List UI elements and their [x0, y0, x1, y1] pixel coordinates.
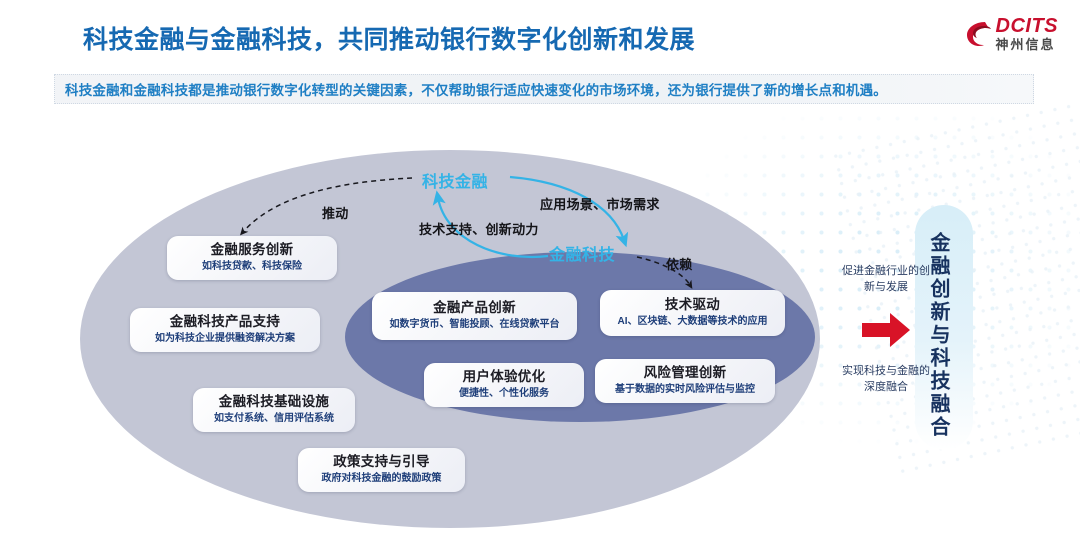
brand-logo: DCITS 神州信息 [965, 16, 1059, 51]
logo-wordmark: DCITS 神州信息 [996, 16, 1059, 51]
card-user-experience-optimization[interactable]: 用户体验优化 便捷性、个性化服务 [424, 363, 584, 407]
card-subtitle: 基于数据的实时风险评估与监控 [615, 384, 755, 397]
card-subtitle: 政府对科技金融的鼓励政策 [322, 473, 442, 486]
logo-brand-text-cn: 神州信息 [996, 38, 1059, 51]
card-title: 金融科技基础设施 [219, 394, 329, 411]
red-arrow-icon [860, 310, 912, 350]
card-title: 技术驱动 [665, 297, 720, 314]
label-rely: 依赖 [666, 254, 693, 273]
card-fintech-product-support[interactable]: 金融科技产品支持 如为科技企业提供融资解决方案 [130, 308, 320, 352]
card-risk-management-innovation[interactable]: 风险管理创新 基于数据的实时风险评估与监控 [595, 359, 775, 403]
card-financial-service-innovation[interactable]: 金融服务创新 如科技贷款、科技保险 [167, 236, 337, 280]
subtitle-text: 科技金融和金融科技都是推动银行数字化转型的关键因素，不仅帮助银行适应快速变化的市… [55, 79, 887, 99]
card-subtitle: 如科技贷款、科技保险 [202, 261, 302, 274]
label-push: 推动 [322, 203, 349, 222]
label-tech-support: 技术支持、创新动力 [419, 219, 539, 238]
vertical-section-title: 金融创新与科技融合 [928, 232, 948, 439]
logo-brand-text: DCITS [996, 16, 1059, 36]
card-technology-driven[interactable]: 技术驱动 AI、区块链、大数据等技术的应用 [600, 290, 785, 336]
swirl-logo-icon [965, 19, 991, 49]
card-subtitle: 如支付系统、信用评估系统 [214, 413, 334, 426]
card-title: 用户体验优化 [463, 369, 546, 386]
card-financial-product-innovation[interactable]: 金融产品创新 如数字货币、智能投顾、在线贷款平台 [372, 292, 577, 340]
card-title: 金融服务创新 [211, 242, 294, 259]
subtitle-banner: 科技金融和金融科技都是推动银行数字化转型的关键因素，不仅帮助银行适应快速变化的市… [54, 74, 1034, 104]
page-title: 科技金融与金融科技，共同推动银行数字化创新和发展 [83, 20, 695, 56]
card-subtitle: 如为科技企业提供融资解决方案 [155, 333, 295, 346]
label-tech-finance: 科技金融 [422, 168, 488, 192]
card-fintech-infrastructure[interactable]: 金融科技基础设施 如支付系统、信用评估系统 [193, 388, 355, 432]
card-subtitle: AI、区块链、大数据等技术的应用 [618, 316, 768, 329]
card-title: 风险管理创新 [644, 365, 727, 382]
card-title: 金融科技产品支持 [170, 314, 280, 331]
right-note-top: 促进金融行业的创新与发展 [840, 264, 932, 296]
right-note-bottom: 实现科技与金融的深度融合 [840, 364, 932, 396]
card-title: 金融产品创新 [433, 300, 516, 317]
card-title: 政策支持与引导 [333, 454, 430, 471]
card-policy-support[interactable]: 政策支持与引导 政府对科技金融的鼓励政策 [298, 448, 465, 492]
card-subtitle: 便捷性、个性化服务 [459, 388, 549, 401]
label-fintech: 金融科技 [549, 241, 615, 265]
label-application-scene: 应用场景、市场需求 [540, 194, 660, 213]
card-subtitle: 如数字货币、智能投顾、在线贷款平台 [390, 319, 560, 332]
